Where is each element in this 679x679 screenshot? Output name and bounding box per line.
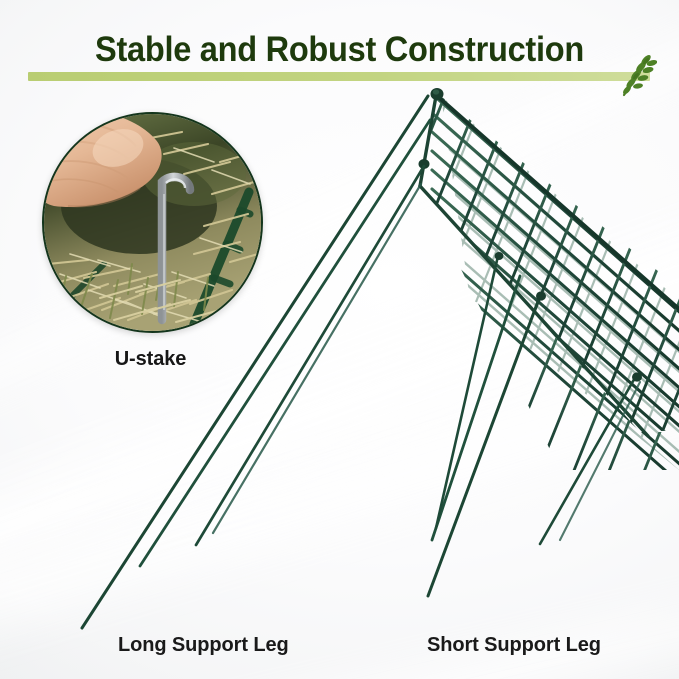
short-support-leg-label: Short Support Leg — [427, 634, 601, 657]
long-support-leg-label: Long Support Leg — [118, 634, 289, 657]
product-illustration — [0, 0, 679, 679]
page-header: Stable and Robust Construction — [0, 24, 679, 86]
u-stake-caption: U-stake — [42, 348, 259, 371]
u-stake-photo — [42, 112, 263, 333]
infographic-page: Stable and Robust Construction — [0, 0, 679, 679]
apex-joint — [431, 88, 444, 100]
back-mesh-panel — [395, 80, 679, 490]
page-title: Stable and Robust Construction — [24, 24, 655, 76]
fern-sprig-icon — [617, 50, 657, 98]
